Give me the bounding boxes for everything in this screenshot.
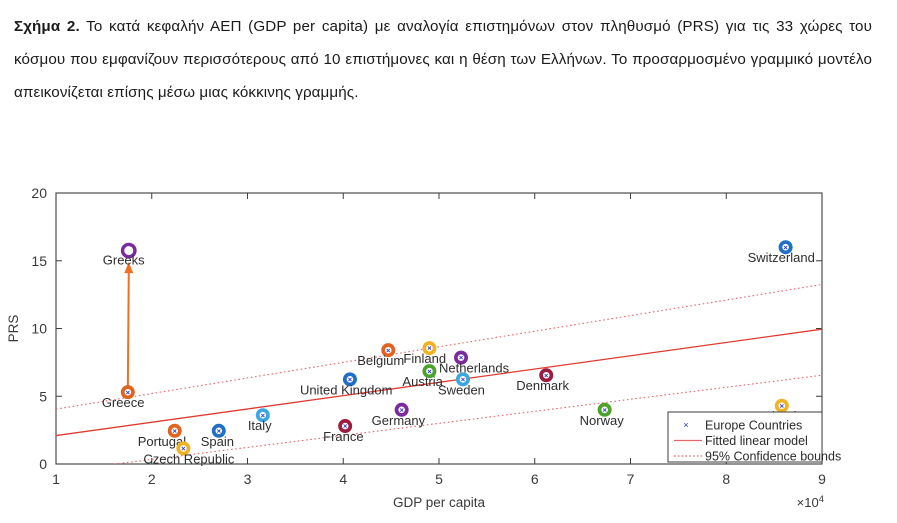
data-point[interactable]: ×Switzerland xyxy=(748,240,815,265)
point-label: Greece xyxy=(102,395,145,410)
y-tick-label: 10 xyxy=(31,321,47,337)
point-label: Sweden xyxy=(438,382,485,397)
scatter-plot-figure: Greeks×Greece×Portugal×Czech Republic×Sp… xyxy=(0,170,897,523)
data-point[interactable]: ×Spain xyxy=(201,424,234,449)
chart-legend[interactable]: ×Europe CountriesFitted linear model95% … xyxy=(668,412,841,464)
data-point[interactable]: ×Germany xyxy=(372,403,426,428)
y-tick-label: 20 xyxy=(31,185,47,201)
x-tick-label: 3 xyxy=(244,471,252,487)
y-tick-label: 0 xyxy=(39,456,47,472)
caption-body: Το κατά κεφαλήν ΑΕΠ (GDP per capita) με … xyxy=(14,18,872,101)
y-tick-label: 15 xyxy=(31,253,47,269)
x-tick-label: 9 xyxy=(818,471,826,487)
point-label: Belgium xyxy=(357,353,404,368)
x-tick-label: 8 xyxy=(722,471,730,487)
point-label: Netherlands xyxy=(439,361,510,376)
point-label: Denmark xyxy=(516,378,569,393)
x-axis-exponent: ×104 xyxy=(797,494,824,510)
data-point[interactable]: ×Belgium xyxy=(357,343,404,368)
data-point[interactable]: ×Sweden xyxy=(438,372,485,397)
x-tick-label: 2 xyxy=(148,471,156,487)
x-axis-label: GDP per capita xyxy=(393,495,486,510)
data-point[interactable]: ×France xyxy=(323,419,363,444)
data-point[interactable]: ×United Kingdom xyxy=(300,372,393,397)
data-point[interactable]: ×Denmark xyxy=(516,368,569,393)
point-label: France xyxy=(323,429,363,444)
data-point[interactable]: ×Greece xyxy=(102,385,145,410)
greeks-annotation-arrow xyxy=(124,262,133,392)
legend-label: Fitted linear model xyxy=(705,434,808,448)
data-point[interactable]: ×Netherlands xyxy=(439,351,510,376)
annotation-arrow-shaft xyxy=(128,271,129,392)
x-tick-label: 4 xyxy=(339,471,347,487)
point-label: Italy xyxy=(248,418,272,433)
x-tick-label: 6 xyxy=(531,471,539,487)
point-label: Switzerland xyxy=(748,250,815,265)
data-point[interactable]: Greeks xyxy=(103,244,145,267)
point-label: United Kingdom xyxy=(300,382,393,397)
y-tick-label: 5 xyxy=(39,388,47,404)
legend-label: Europe Countries xyxy=(705,419,802,433)
point-label: Germany xyxy=(372,413,426,428)
point-label: Norway xyxy=(580,413,625,428)
point-label: Greeks xyxy=(103,253,145,268)
figure-caption: Σχήμα 2. Το κατά κεφαλήν ΑΕΠ (GDP per ca… xyxy=(14,10,872,109)
data-point[interactable]: ×Norway xyxy=(580,403,625,428)
x-tick-label: 5 xyxy=(435,471,443,487)
legend-x-icon: × xyxy=(683,420,688,430)
x-tick-label: 1 xyxy=(52,471,60,487)
chart-canvas: Greeks×Greece×Portugal×Czech Republic×Sp… xyxy=(0,170,897,523)
point-label: Spain xyxy=(201,434,234,449)
caption-lead: Σχήμα 2. xyxy=(14,18,80,35)
data-point[interactable]: ×Italy xyxy=(248,408,272,433)
x-tick-label: 7 xyxy=(627,471,635,487)
legend-label: 95% Confidence bounds xyxy=(705,450,841,464)
point-label: Czech Republic xyxy=(143,451,235,466)
y-axis-label: PRS xyxy=(6,315,21,343)
